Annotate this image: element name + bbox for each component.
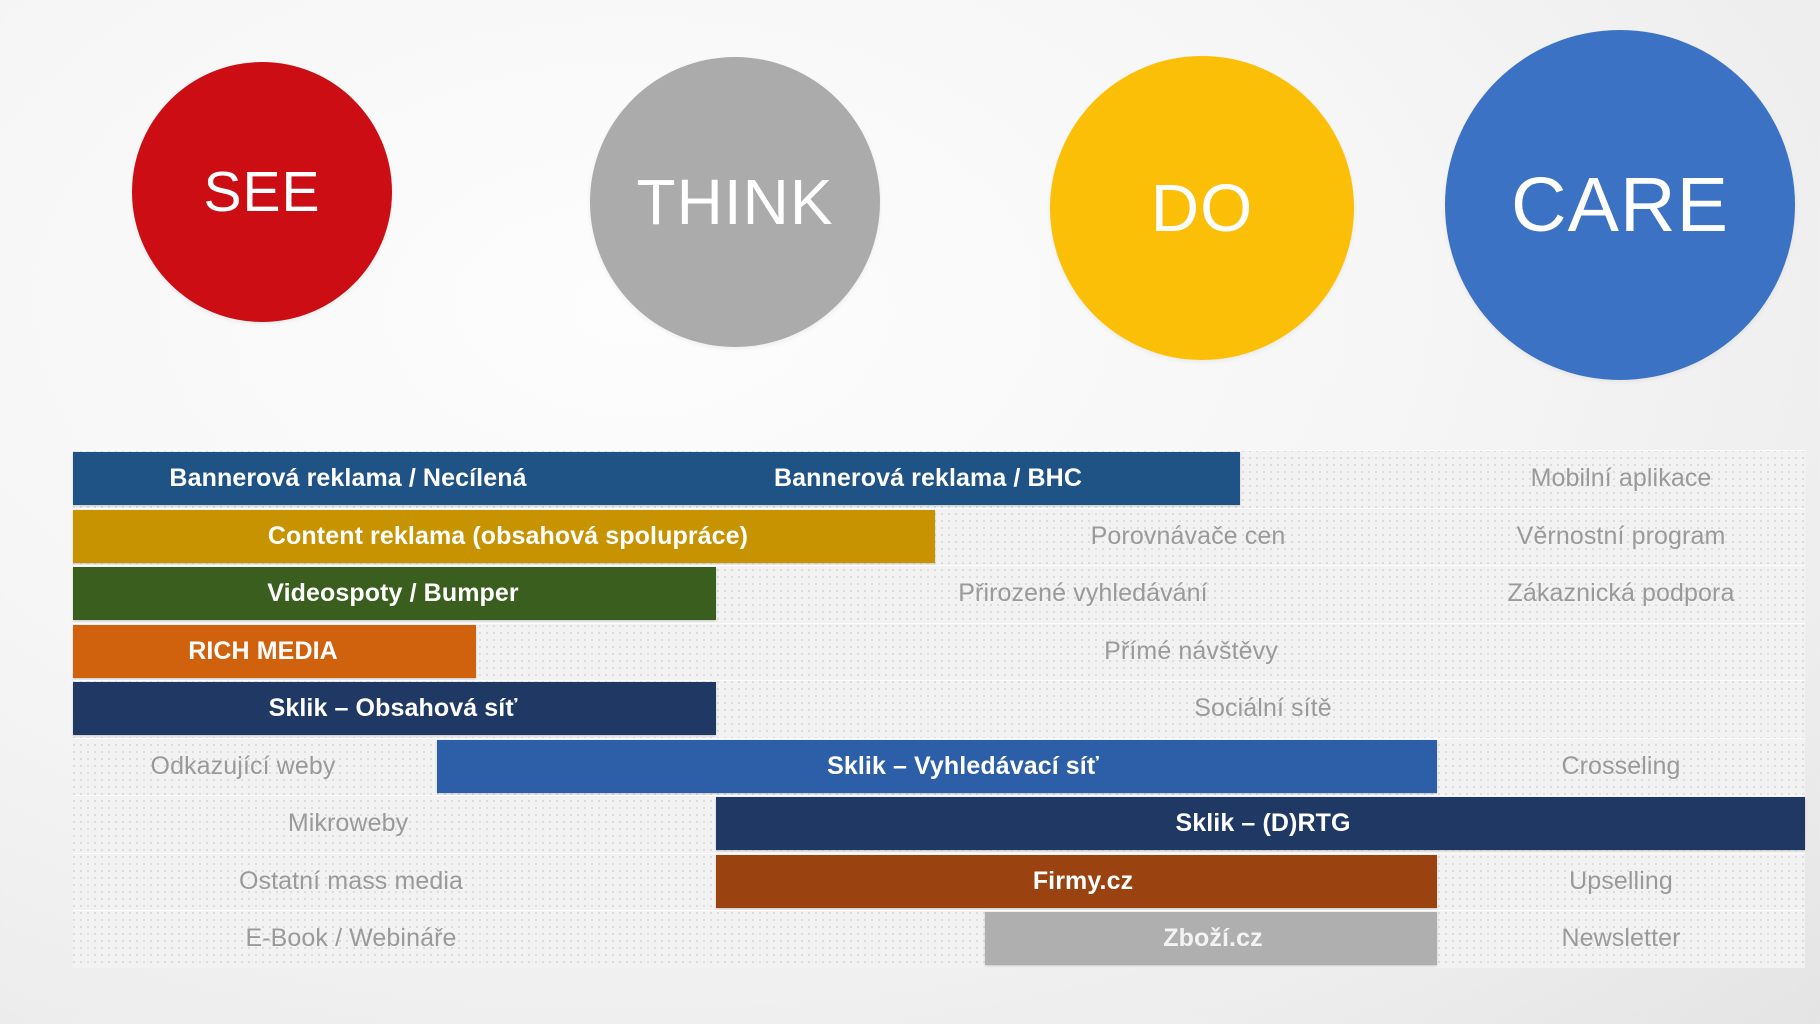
stage-circle-think[interactable]: THINK <box>590 57 880 347</box>
channel-bar[interactable]: RICH MEDIA <box>73 625 476 678</box>
channel-bar-label: Sklik – Vyhledávací síť <box>463 752 1463 781</box>
stage-circle-care[interactable]: CARE <box>1445 30 1795 380</box>
matrix-row: Odkazující webySklik – Vyhledávací síťCr… <box>73 738 1805 796</box>
stage-circle-label: THINK <box>637 170 834 234</box>
channel-cell-label[interactable]: Upselling <box>1321 853 1820 911</box>
matrix-row: Sklik – Obsahová síťSociální sítě <box>73 680 1805 738</box>
channel-cell-label[interactable]: Mobilní aplikace <box>1321 450 1820 508</box>
matrix-row: Videospoty / BumperPřirozené vyhledávání… <box>73 565 1805 623</box>
matrix-row: Bannerová reklama / NecílenáBannerová re… <box>73 450 1805 508</box>
stage-circle-do[interactable]: DO <box>1050 56 1354 360</box>
channel-cell-label[interactable]: Sociální sítě <box>963 680 1563 738</box>
channel-cell-label[interactable]: Mikroweby <box>48 795 648 853</box>
channel-cell-label[interactable]: Crosseling <box>1321 738 1820 796</box>
stage-circle-label: DO <box>1151 175 1254 242</box>
slide-canvas: SEETHINKDOCARE Bannerová reklama / Necíl… <box>0 0 1820 1024</box>
channel-bar-label: Bannerová reklama / BHC <box>628 450 1228 508</box>
matrix-row: MikrowebySklik – (D)RTG <box>73 795 1805 853</box>
channel-bar[interactable]: Sklik – Vyhledávací síť <box>437 740 1437 793</box>
channel-bar-label: Sklik – (D)RTG <box>719 809 1808 838</box>
matrix-row: Content reklama (obsahová spolupráce)Por… <box>73 508 1805 566</box>
channel-matrix: Bannerová reklama / NecílenáBannerová re… <box>73 450 1805 968</box>
channel-bar-label: Content reklama (obsahová spolupráce) <box>77 522 939 551</box>
channel-cell-label[interactable]: E-Book / Webináře <box>51 910 651 968</box>
channel-cell-label[interactable]: Přímé návštěvy <box>891 623 1491 681</box>
channel-cell-label[interactable]: Přirozené vyhledávání <box>783 565 1383 623</box>
funnel-stage-circles: SEETHINKDOCARE <box>0 0 1820 400</box>
channel-bar-label: RICH MEDIA <box>62 637 465 666</box>
matrix-row: RICH MEDIAPřímé návštěvy <box>73 623 1805 681</box>
channel-cell-label[interactable]: Newsletter <box>1321 910 1820 968</box>
channel-bar-label: Sklik – Obsahová síť <box>72 694 715 723</box>
matrix-row: Ostatní mass mediaFirmy.czUpselling <box>73 853 1805 911</box>
channel-cell-label[interactable]: Zákaznická podpora <box>1321 565 1820 623</box>
matrix-row: E-Book / WebinářeZboží.czNewsletter <box>73 910 1805 968</box>
channel-bar[interactable]: Content reklama (obsahová spolupráce) <box>73 510 935 563</box>
stage-circle-label: CARE <box>1511 167 1729 244</box>
channel-bar[interactable]: Sklik – (D)RTG <box>716 797 1805 850</box>
stage-circle-see[interactable]: SEE <box>132 62 392 322</box>
channel-cell-label[interactable]: Ostatní mass media <box>51 853 651 911</box>
channel-bar[interactable]: Sklik – Obsahová síť <box>73 682 716 735</box>
channel-bar[interactable]: Videospoty / Bumper <box>73 567 716 620</box>
channel-bar-label: Videospoty / Bumper <box>72 579 715 608</box>
channel-cell-label[interactable]: Věrnostní program <box>1321 508 1820 566</box>
stage-circle-label: SEE <box>203 164 320 221</box>
